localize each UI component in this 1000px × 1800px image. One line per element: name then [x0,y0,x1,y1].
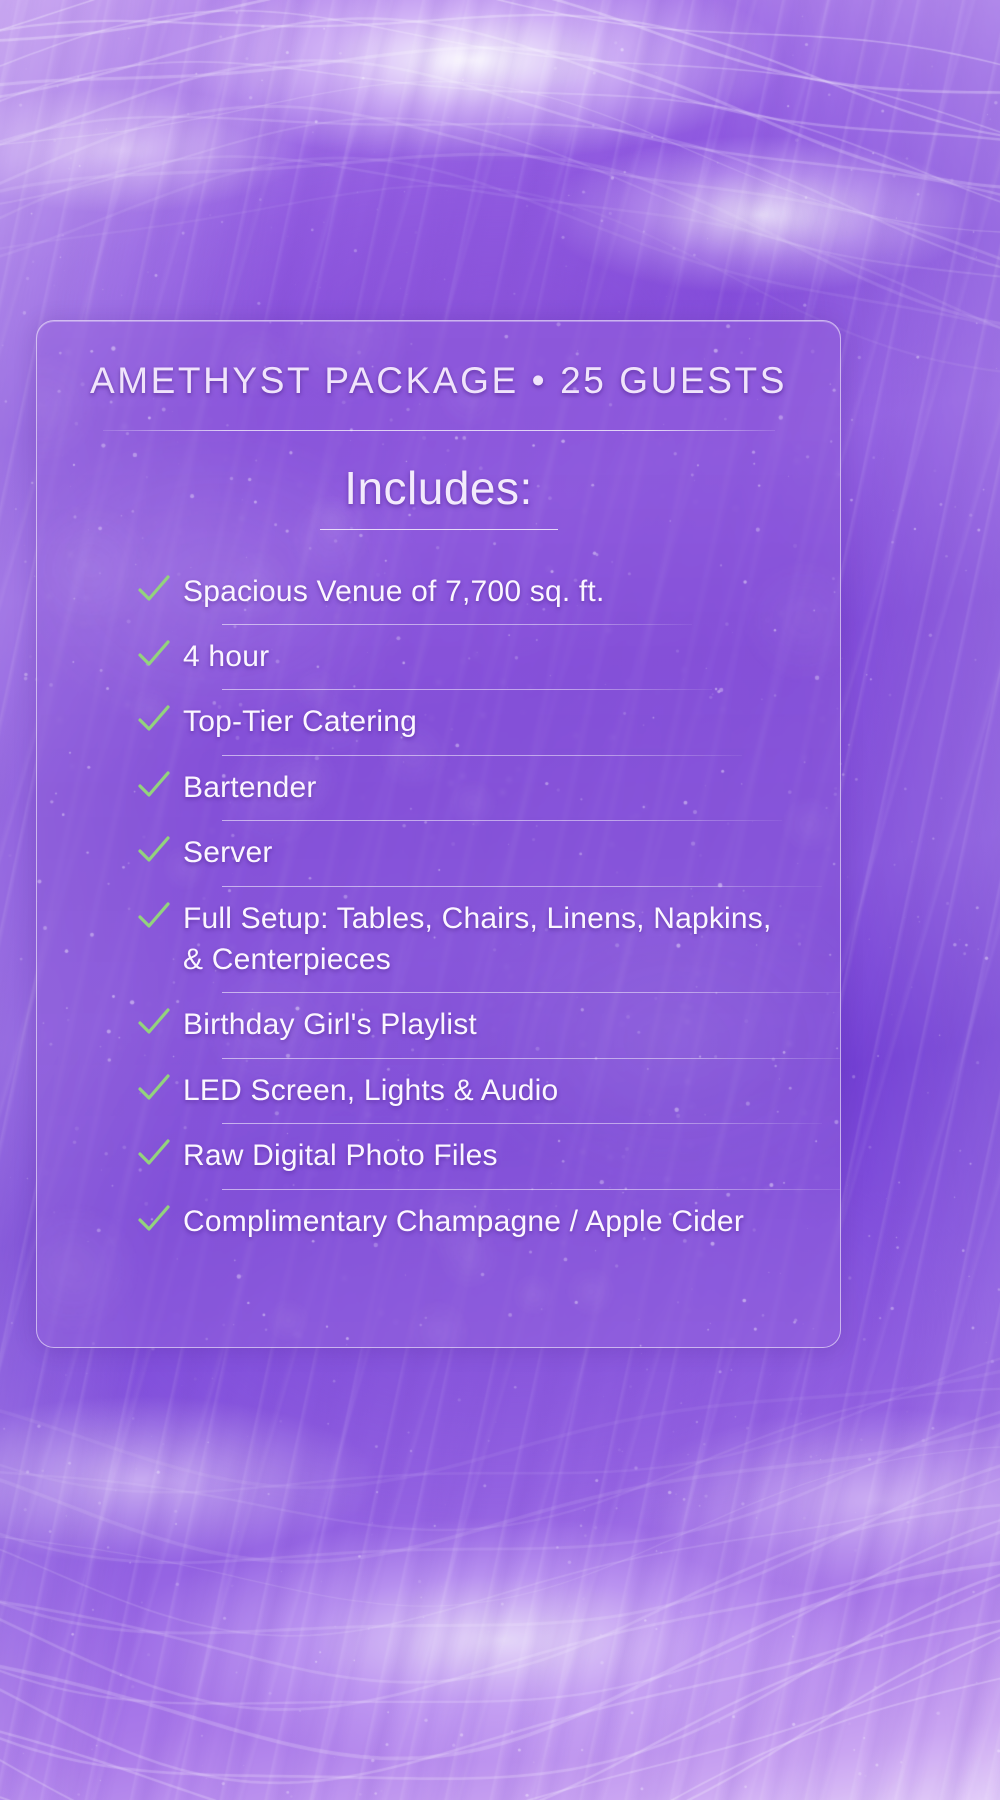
list-item-label: Complimentary Champagne / Apple Cider [183,1201,810,1242]
list-item: LED Screen, Lights & Audio [67,1059,810,1123]
check-icon [137,1073,183,1103]
inclusions-list: Spacious Venue of 7,700 sq. ft.4 hourTop… [67,560,810,1254]
check-icon [137,835,183,865]
check-icon [137,1007,183,1037]
check-icon [137,770,183,800]
check-icon [137,574,183,604]
check-icon [137,639,183,669]
list-item: Birthday Girl's Playlist [67,993,810,1057]
list-item: Top-Tier Catering [67,690,810,754]
check-icon [137,1204,183,1234]
check-icon [137,704,183,734]
package-card: AMETHYST PACKAGE • 25 GUESTS Includes: S… [36,320,841,1348]
list-item-label: Birthday Girl's Playlist [183,1004,810,1045]
check-icon [137,1138,183,1168]
includes-heading: Includes: [67,461,810,515]
includes-divider [320,529,558,530]
list-item: Bartender [67,756,810,820]
title-divider [103,430,775,431]
list-item-label: Raw Digital Photo Files [183,1135,810,1176]
list-item: Spacious Venue of 7,700 sq. ft. [67,560,810,624]
list-item-label: Bartender [183,767,810,808]
list-item: 4 hour [67,625,810,689]
list-item: Full Setup: Tables, Chairs, Linens, Napk… [67,887,810,993]
check-icon [137,901,183,931]
list-item-label: Server [183,832,810,873]
list-item: Raw Digital Photo Files [67,1124,810,1188]
list-item-label: LED Screen, Lights & Audio [183,1070,810,1111]
page-title: AMETHYST PACKAGE • 25 GUESTS [67,361,810,402]
list-item: Server [67,821,810,885]
list-item-label: Full Setup: Tables, Chairs, Linens, Napk… [183,898,810,981]
list-item: Complimentary Champagne / Apple Cider [67,1190,810,1254]
list-item-label: Spacious Venue of 7,700 sq. ft. [183,571,810,612]
list-item-label: 4 hour [183,636,810,677]
list-item-label: Top-Tier Catering [183,701,810,742]
